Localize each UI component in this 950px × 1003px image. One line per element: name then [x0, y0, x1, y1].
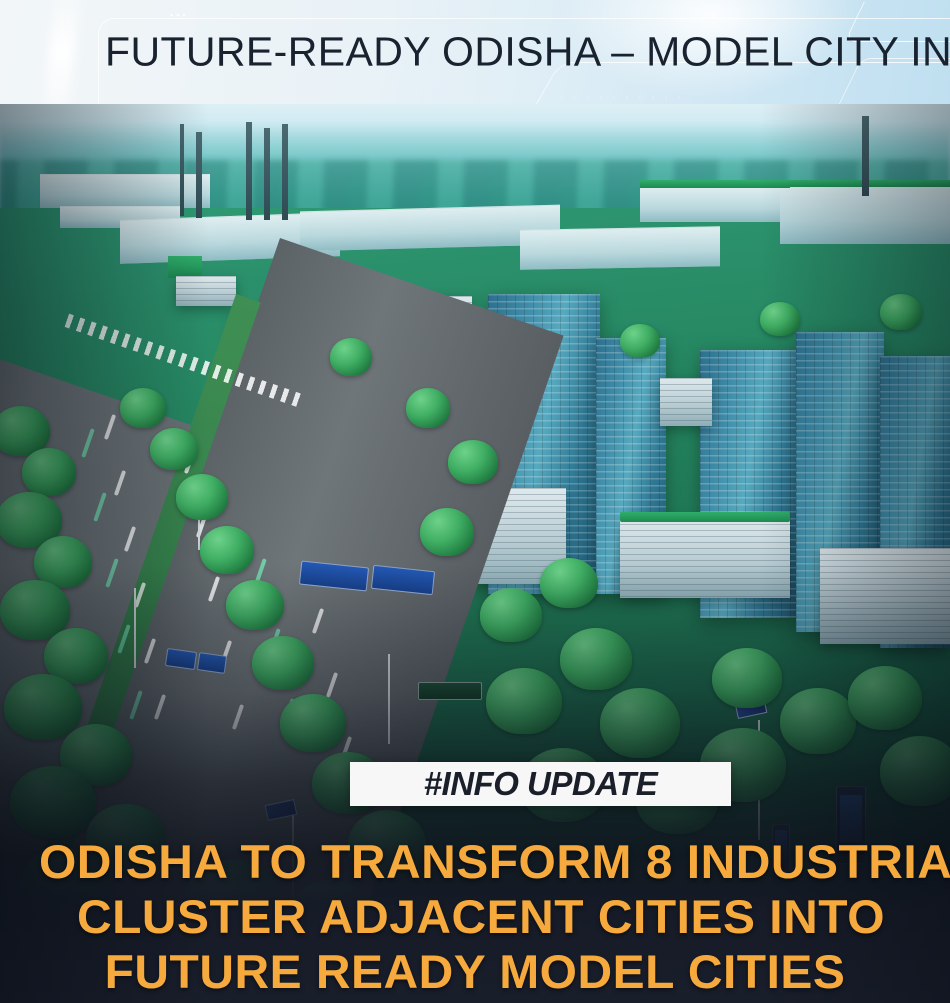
- green-roof-building: [790, 180, 950, 187]
- tree: [120, 388, 166, 428]
- tree: [406, 388, 450, 428]
- headline-line-3: FUTURE READY MODEL CITIES: [0, 944, 950, 999]
- factory-building: [640, 186, 790, 222]
- green-roof-building: [640, 180, 790, 188]
- smokestack-icon: [862, 116, 869, 196]
- low-rise-building: [820, 548, 950, 644]
- tree: [10, 766, 96, 838]
- tree: [880, 736, 950, 806]
- hud-faint-marks: ◦ ◦ ◦ ◦ ◦ ◦ ◦ ◦ ◦ ◦: [560, 93, 684, 102]
- headline-line-1: ODISHA TO TRANSFORM 8 INDUSTRIAL: [39, 834, 950, 889]
- green-roof-building: [168, 256, 202, 278]
- low-rise-building: [620, 518, 790, 598]
- tree: [600, 688, 680, 758]
- headline-block: ODISHA TO TRANSFORM 8 INDUSTRIAL CLUSTER…: [0, 834, 950, 999]
- poster-canvas: ▪▪▪ ◦ ◦ ◦ ◦ ◦ ◦ ◦ ◦ ◦ ◦ FUTURE-READY ODI…: [0, 0, 950, 1003]
- info-update-label: #INFO UPDATE: [424, 765, 658, 803]
- header-band: ▪▪▪ ◦ ◦ ◦ ◦ ◦ ◦ ◦ ◦ ◦ ◦ FUTURE-READY ODI…: [0, 0, 950, 104]
- tree: [280, 694, 346, 752]
- headline-line-2: CLUSTER ADJACENT CITIES INTO: [3, 889, 950, 944]
- smokestack-icon: [196, 132, 202, 218]
- tree: [540, 558, 598, 608]
- tree: [420, 508, 474, 556]
- header-light-streak-icon: [39, 0, 84, 104]
- tree: [330, 338, 372, 376]
- info-update-banner: #INFO UPDATE: [350, 762, 731, 806]
- tree: [486, 668, 562, 734]
- tree: [848, 666, 922, 730]
- factory-building: [40, 174, 210, 208]
- tree: [22, 448, 76, 496]
- tree: [252, 636, 314, 690]
- page-title: FUTURE-READY ODISHA – MODEL CITY INITIAT…: [105, 29, 950, 76]
- tree: [480, 588, 542, 642]
- street-light-pole: [134, 588, 136, 668]
- tree: [560, 628, 632, 690]
- tree: [780, 688, 856, 754]
- tree: [176, 474, 228, 520]
- hud-tick-marks: ▪▪▪: [170, 10, 189, 20]
- tree: [150, 428, 198, 470]
- tree: [448, 440, 498, 484]
- traffic-gantry-sign: [418, 682, 482, 700]
- smokestack-icon: [264, 128, 270, 220]
- smokestack-icon: [282, 124, 288, 220]
- street-light-pole: [388, 654, 390, 744]
- tree: [712, 648, 782, 708]
- low-rise-building: [660, 378, 712, 426]
- factory-building: [520, 226, 720, 269]
- smokestack-icon: [246, 122, 252, 220]
- tree: [200, 526, 254, 574]
- green-roof-building: [620, 512, 790, 522]
- tree: [760, 302, 800, 336]
- low-rise-building: [176, 276, 236, 306]
- tree: [4, 674, 82, 740]
- tree: [620, 324, 660, 358]
- road-sign: [197, 652, 227, 674]
- smokestack-icon: [180, 124, 184, 216]
- tree: [226, 580, 284, 630]
- tree: [880, 294, 922, 330]
